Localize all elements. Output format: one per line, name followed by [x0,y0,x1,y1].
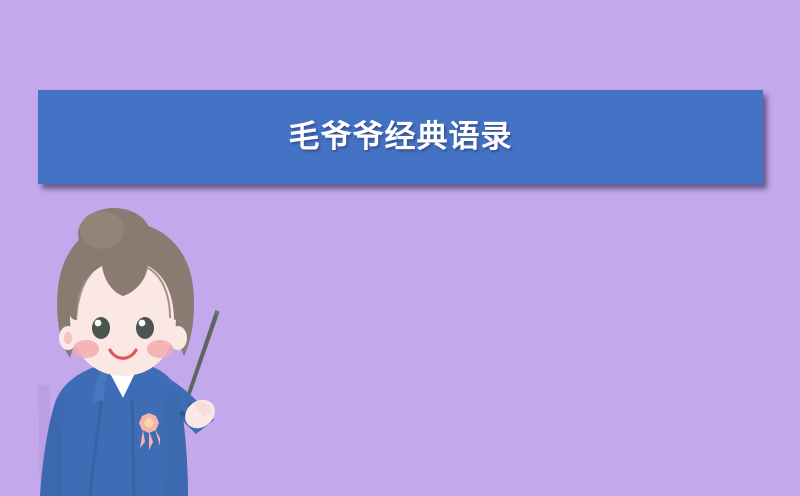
blush-left [73,340,99,358]
title-banner: 毛爷爷经典语录 [38,90,763,184]
teacher-head [57,208,194,376]
blush-right [147,340,173,358]
eye-right [136,317,154,339]
eye-left [92,317,110,339]
hair-bun-highlight [80,211,124,249]
teacher-illustration [28,216,248,496]
page-title: 毛爷爷经典语录 [289,122,513,153]
slide-canvas: 毛爷爷经典语录 [0,0,800,496]
